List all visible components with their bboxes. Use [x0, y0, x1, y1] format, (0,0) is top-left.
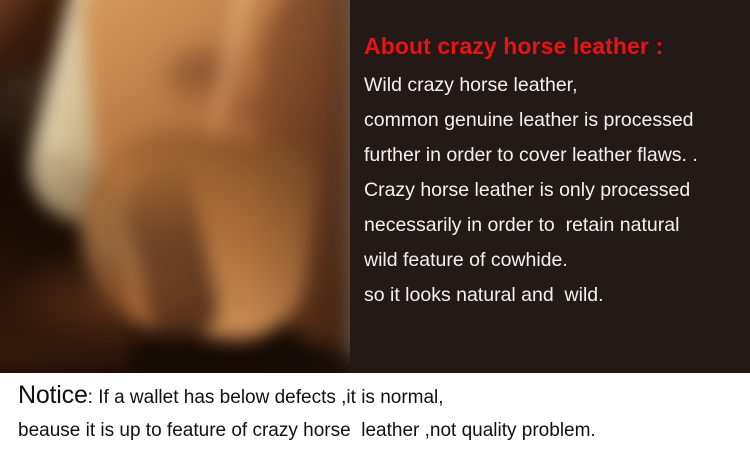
- panel-body-line: further in order to cover leather flaws.…: [364, 138, 750, 173]
- notice-label: Notice: [18, 381, 88, 409]
- panel-body-line: Crazy horse leather is only processed: [364, 173, 750, 208]
- panel-body-line: Wild crazy horse leather,: [364, 68, 750, 103]
- panel-body-line: necessarily in order to retain natural: [364, 208, 750, 243]
- panel-body-line: wild feature of cowhide.: [364, 243, 750, 278]
- notice-section: Notice: If a wallet has below defects ,i…: [0, 373, 750, 454]
- panel-body-line: common genuine leather is processed: [364, 103, 750, 138]
- info-panel-content: About crazy horse leather : Wild crazy h…: [364, 0, 750, 373]
- notice-line-2: beause it is up to feature of crazy hors…: [18, 420, 596, 442]
- banner-section: About crazy horse leather : Wild crazy h…: [0, 0, 750, 373]
- panel-body-line: so it looks natural and wild.: [364, 278, 750, 313]
- panel-heading: About crazy horse leather :: [364, 33, 663, 60]
- panel-body: Wild crazy horse leather, common genuine…: [364, 68, 750, 313]
- notice-line-1: Notice: If a wallet has below defects ,i…: [18, 381, 444, 410]
- notice-line-1-text: : If a wallet has below defects ,it is n…: [88, 387, 444, 408]
- product-description-banner: About crazy horse leather : Wild crazy h…: [0, 0, 750, 454]
- photo-warm-glow: [0, 240, 270, 360]
- info-panel: About crazy horse leather : Wild crazy h…: [350, 0, 750, 373]
